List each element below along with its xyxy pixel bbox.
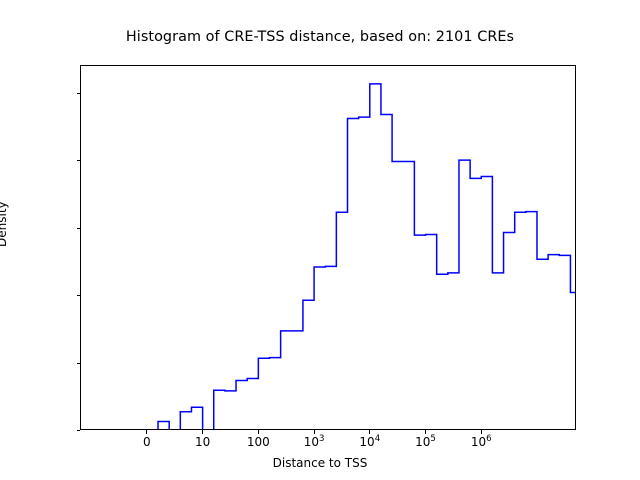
x-tick-mark-6 — [481, 430, 482, 434]
x-tick-mark-1 — [202, 430, 203, 434]
x-axis-label: Distance to TSS — [0, 456, 640, 470]
x-tick-mark-2 — [258, 430, 259, 434]
plot-area — [80, 65, 576, 430]
y-tick-mark-0 — [77, 430, 81, 431]
y-axis-label: Density — [0, 201, 9, 247]
histogram-figure: Histogram of CRE-TSS distance, based on:… — [0, 0, 640, 480]
x-tick-label-6: 106 — [441, 435, 521, 449]
x-tick-mark-3 — [314, 430, 315, 434]
histogram-step-line — [80, 65, 576, 430]
x-tick-mark-4 — [369, 430, 370, 434]
x-tick-mark-5 — [425, 430, 426, 434]
x-tick-mark-0 — [146, 430, 147, 434]
chart-title: Histogram of CRE-TSS distance, based on:… — [0, 29, 640, 45]
